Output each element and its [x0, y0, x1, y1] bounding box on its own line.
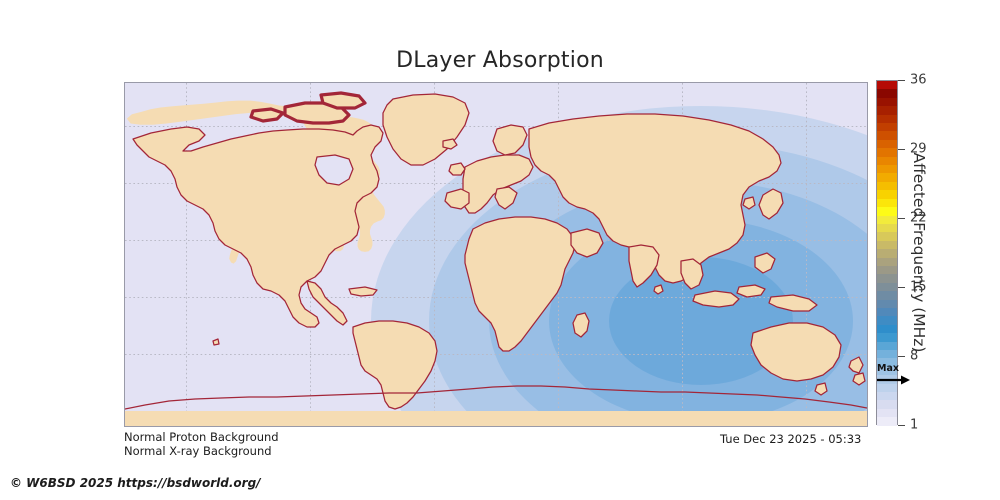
colorbar-axis-label: Affected Frequency (MHz)	[908, 80, 930, 425]
colorbar-segment	[877, 333, 897, 341]
colorbar-segment	[877, 249, 897, 257]
colorbar-segment	[877, 258, 897, 266]
tick-mark	[898, 149, 905, 150]
colorbar-segment	[877, 417, 897, 425]
colorbar-segment	[877, 266, 897, 274]
colorbar-segment	[877, 274, 897, 282]
colorbar-segment	[877, 89, 897, 97]
colorbar-segment	[877, 165, 897, 173]
colorbar-segment	[877, 232, 897, 240]
colorbar-segment	[877, 283, 897, 291]
colorbar-segment	[877, 140, 897, 148]
colorbar-segment	[877, 199, 897, 207]
colorbar-segment	[877, 367, 897, 375]
copyright-notice: © W6BSD 2025 https://bsdworld.org/	[10, 476, 261, 490]
colorbar-segment	[877, 241, 897, 249]
colorbar-segment	[877, 182, 897, 190]
colorbar-segment	[877, 148, 897, 156]
timestamp: Tue Dec 23 2025 - 05:33	[720, 432, 861, 446]
colorbar-segment	[877, 207, 897, 215]
colorbar-segment	[877, 123, 897, 131]
colorbar-segment	[877, 291, 897, 299]
colorbar-gradient	[876, 80, 898, 425]
tick-mark	[898, 287, 905, 288]
colorbar-segment	[877, 131, 897, 139]
colorbar-segment	[877, 358, 897, 366]
colorbar-segment	[877, 98, 897, 106]
colorbar-segment	[877, 115, 897, 123]
colorbar-segment	[877, 190, 897, 198]
map-canvas	[125, 83, 867, 426]
colorbar-segment	[877, 325, 897, 333]
colorbar-segment	[877, 316, 897, 324]
status-proton-background: Normal Proton Background	[124, 430, 279, 444]
colorbar-segment	[877, 216, 897, 224]
colorbar-segment	[877, 375, 897, 383]
tick-mark	[898, 425, 905, 426]
colorbar[interactable]: 1815222936 Max	[876, 80, 898, 425]
colorbar-segment	[877, 173, 897, 181]
world-map[interactable]	[124, 82, 868, 427]
colorbar-segment	[877, 308, 897, 316]
colorbar-segment	[877, 384, 897, 392]
colorbar-segment	[877, 81, 897, 89]
tick-mark	[898, 218, 905, 219]
colorbar-segment	[877, 300, 897, 308]
land-antarctica	[125, 411, 867, 426]
colorbar-segment	[877, 409, 897, 417]
colorbar-segment	[877, 400, 897, 408]
page-title: DLayer Absorption	[0, 48, 1000, 73]
colorbar-segment	[877, 392, 897, 400]
colorbar-segment	[877, 342, 897, 350]
colorbar-segment	[877, 224, 897, 232]
tick-mark	[898, 356, 905, 357]
colorbar-segment	[877, 350, 897, 358]
status-xray-background: Normal X-ray Background	[124, 444, 272, 458]
colorbar-segment	[877, 157, 897, 165]
colorbar-segment	[877, 106, 897, 114]
tick-mark	[898, 80, 905, 81]
